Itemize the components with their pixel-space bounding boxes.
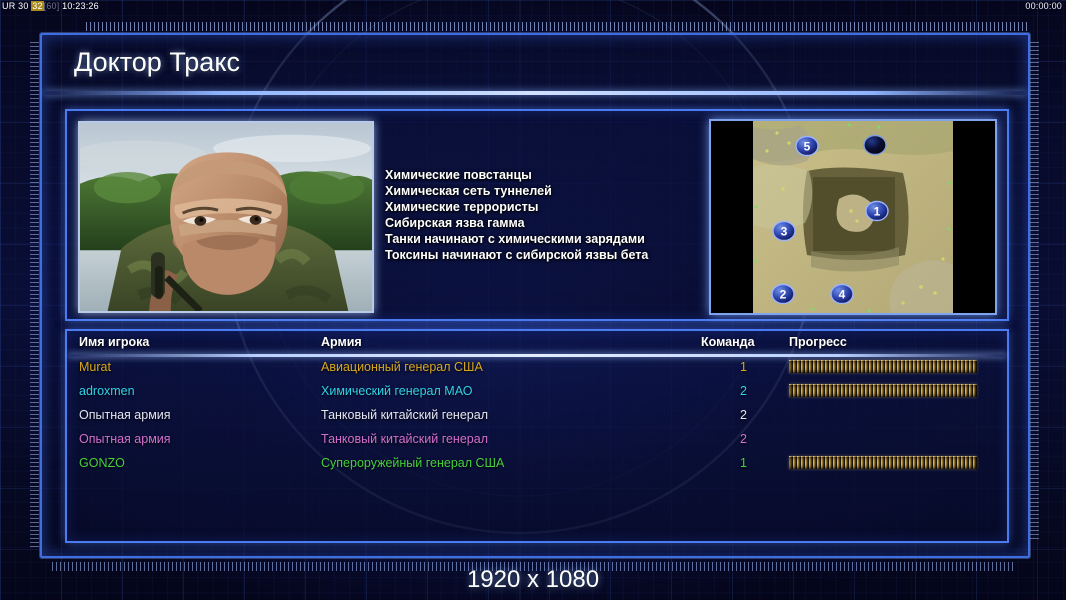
player-army: Танковый китайский генерал: [321, 432, 488, 446]
minimap-marker-1: 1: [866, 202, 888, 221]
description-line-6: Токсины начинают с сибирской язвы бета: [385, 247, 648, 263]
progress-bar: [789, 456, 977, 469]
header-army: Армия: [321, 335, 362, 349]
player-army: Супероружейный генерал США: [321, 456, 504, 470]
svg-text:3: 3: [781, 225, 788, 239]
description-line-2: Химическая сеть туннелей: [385, 183, 648, 199]
description-line-3: Химические террористы: [385, 199, 648, 215]
description-line-5: Танки начинают с химическими зарядами: [385, 231, 648, 247]
progress-bar: [789, 384, 977, 397]
player-progress: [789, 384, 977, 397]
table-row[interactable]: adroxmenХимический генерал МАО2: [67, 381, 1007, 405]
table-row[interactable]: Опытная армияТанковый китайский генерал2: [67, 405, 1007, 429]
general-portrait: [78, 121, 374, 313]
player-team: 1: [727, 456, 747, 470]
player-name: Опытная армия: [79, 408, 171, 422]
ruler-top: [86, 22, 1030, 31]
fps-cap: [60]: [44, 1, 60, 11]
header-team: Команда: [701, 335, 755, 349]
fps-counter: UR 30 32[60] 10:23:26: [2, 0, 99, 13]
minimap-marker-5: 5: [796, 137, 818, 156]
minimap-image: 5 1 3: [753, 121, 953, 313]
minimap-marker-dark: [864, 136, 886, 155]
minimap[interactable]: 5 1 3: [753, 121, 953, 313]
briefing-panel: Химические повстанцы Химическая сеть тун…: [65, 109, 1009, 321]
player-team: 2: [727, 432, 747, 446]
resolution-label: 1920 x 1080: [0, 566, 1066, 594]
player-name: Опытная армия: [79, 432, 171, 446]
player-progress: [789, 432, 977, 445]
header-progress: Прогресс: [789, 335, 847, 349]
fps-value-a: 30: [18, 1, 28, 11]
ruler-left: [30, 42, 39, 547]
table-row[interactable]: Опытная армияТанковый китайский генерал2: [67, 429, 1007, 453]
header-player-name: Имя игрока: [79, 335, 149, 349]
ruler-right: [1030, 42, 1039, 542]
svg-text:2: 2: [780, 288, 787, 302]
player-army: Танковый китайский генерал: [321, 408, 488, 422]
clock-left: 10:23:26: [62, 1, 99, 11]
page-title: Доктор Тракс: [74, 47, 240, 78]
description-line-1: Химические повстанцы: [385, 167, 648, 183]
player-rows: MuratАвиационный генерал США1adroxmenХим…: [67, 357, 1007, 477]
top-status-bar: UR 30 32[60] 10:23:26 00:00:00: [0, 0, 1066, 13]
general-description: Химические повстанцы Химическая сеть тун…: [385, 167, 648, 264]
svg-text:1: 1: [874, 205, 881, 219]
progress-bar: [789, 360, 977, 373]
player-name: GONZO: [79, 456, 125, 470]
title-bar: Доктор Тракс: [42, 35, 1028, 91]
svg-text:4: 4: [839, 288, 846, 302]
clock-right: 00:00:00: [1025, 0, 1062, 13]
player-name: Murat: [79, 360, 111, 374]
table-row[interactable]: MuratАвиационный генерал США1: [67, 357, 1007, 381]
player-progress: [789, 456, 977, 469]
table-row[interactable]: GONZOСупероружейный генерал США1: [67, 453, 1007, 477]
minimap-container[interactable]: 5 1 3: [709, 119, 997, 315]
minimap-marker-2: 2: [772, 285, 794, 304]
player-team: 2: [727, 408, 747, 422]
player-army: Химический генерал МАО: [321, 384, 472, 398]
player-list-header: Имя игрока Армия Команда Прогресс: [67, 331, 1007, 354]
fps-prefix: UR: [2, 1, 15, 11]
player-team: 2: [727, 384, 747, 398]
game-lobby-screen: UR 30 32[60] 10:23:26 00:00:00 Доктор Тр…: [0, 0, 1066, 600]
description-line-4: Сибирская язва гамма: [385, 215, 648, 231]
minimap-marker-4: 4: [831, 285, 853, 304]
svg-text:5: 5: [804, 140, 811, 154]
main-frame: Доктор Тракс: [40, 33, 1030, 558]
player-army: Авиационный генерал США: [321, 360, 483, 374]
player-name: adroxmen: [79, 384, 135, 398]
fps-value-b: 32: [31, 1, 43, 11]
player-progress: [789, 360, 977, 373]
player-progress: [789, 408, 977, 421]
player-list-panel: Имя игрока Армия Команда Прогресс MuratА…: [65, 329, 1009, 543]
title-divider: [44, 91, 1026, 95]
player-team: 1: [727, 360, 747, 374]
minimap-marker-3: 3: [773, 222, 795, 241]
portrait-image: [80, 123, 372, 311]
